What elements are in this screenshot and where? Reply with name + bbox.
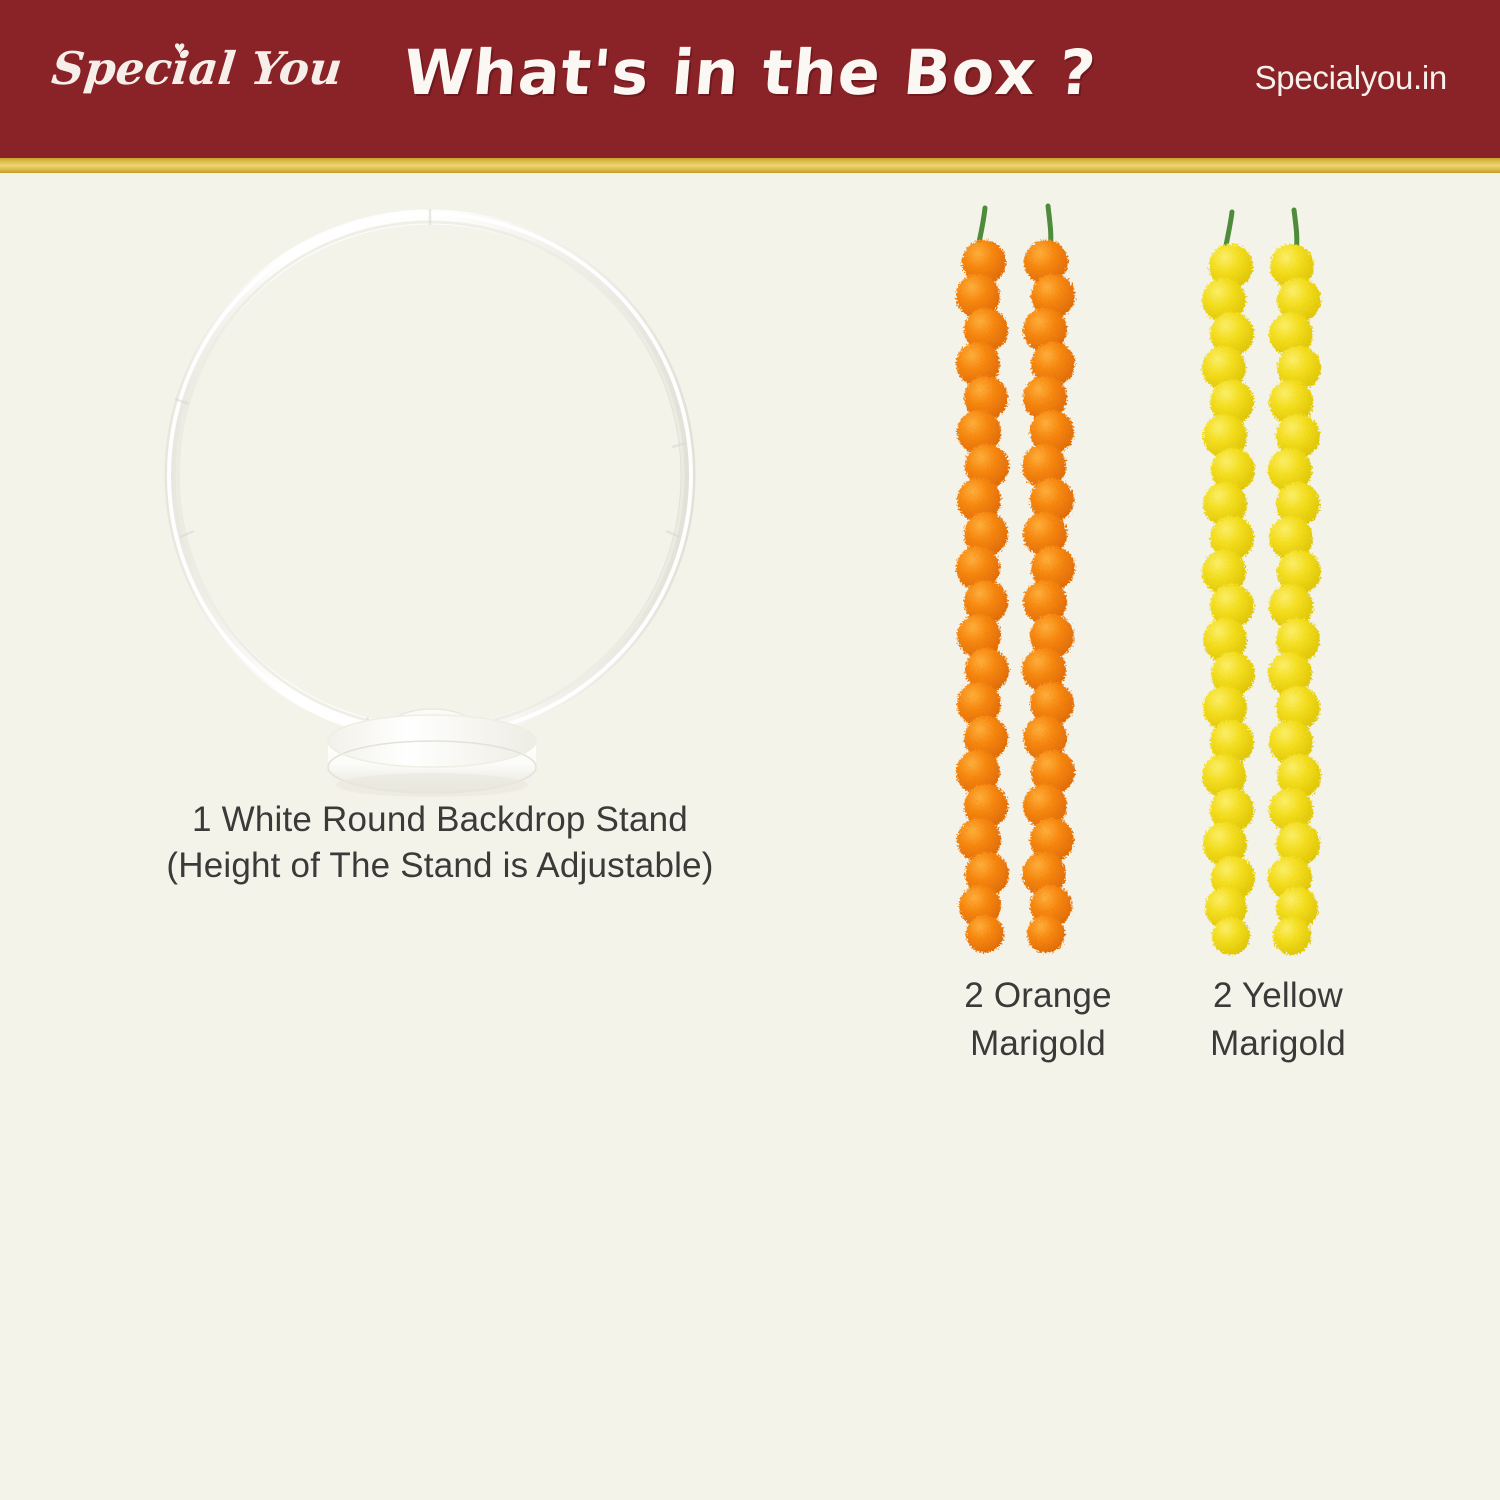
caption-line-1: 2 Yellow: [1213, 976, 1343, 1015]
garland-yellow-2: [1268, 210, 1321, 955]
marigold-garlands-illustration: [900, 200, 1400, 990]
gold-divider: [0, 158, 1500, 173]
product-backdrop-stand: 1 White Round Backdrop Stand (Height of …: [120, 185, 760, 885]
caption-line-1: 1 White Round Backdrop Stand: [192, 800, 688, 839]
backdrop-stand-caption: 1 White Round Backdrop Stand (Height of …: [120, 797, 760, 889]
product-marigold-garlands: 2 Orange Marigold 2 Yellow Marigold: [900, 200, 1400, 1100]
stand-shadow: [336, 773, 528, 797]
yellow-marigold-caption: 2 Yellow Marigold: [1148, 972, 1408, 1068]
caption-line-1: 2 Orange: [964, 976, 1112, 1015]
ring-inner-shade: [177, 222, 683, 728]
caption-line-2: Marigold: [908, 1020, 1168, 1068]
orange-marigold-caption: 2 Orange Marigold: [908, 972, 1168, 1068]
header-bar: Special You ♥ What's in the Box ? Specia…: [0, 0, 1500, 158]
infographic-page: Special You ♥ What's in the Box ? Specia…: [0, 0, 1500, 1500]
site-url-label: Specialyou.in: [1255, 58, 1447, 98]
caption-line-2: (Height of The Stand is Adjustable): [120, 843, 760, 889]
garland-orange-2: [1022, 206, 1075, 953]
backdrop-stand-illustration: [120, 185, 760, 805]
ring-outer: [172, 217, 688, 733]
garland-yellow-1: [1202, 212, 1255, 955]
caption-line-2: Marigold: [1148, 1020, 1408, 1068]
garland-orange-1: [956, 208, 1009, 953]
